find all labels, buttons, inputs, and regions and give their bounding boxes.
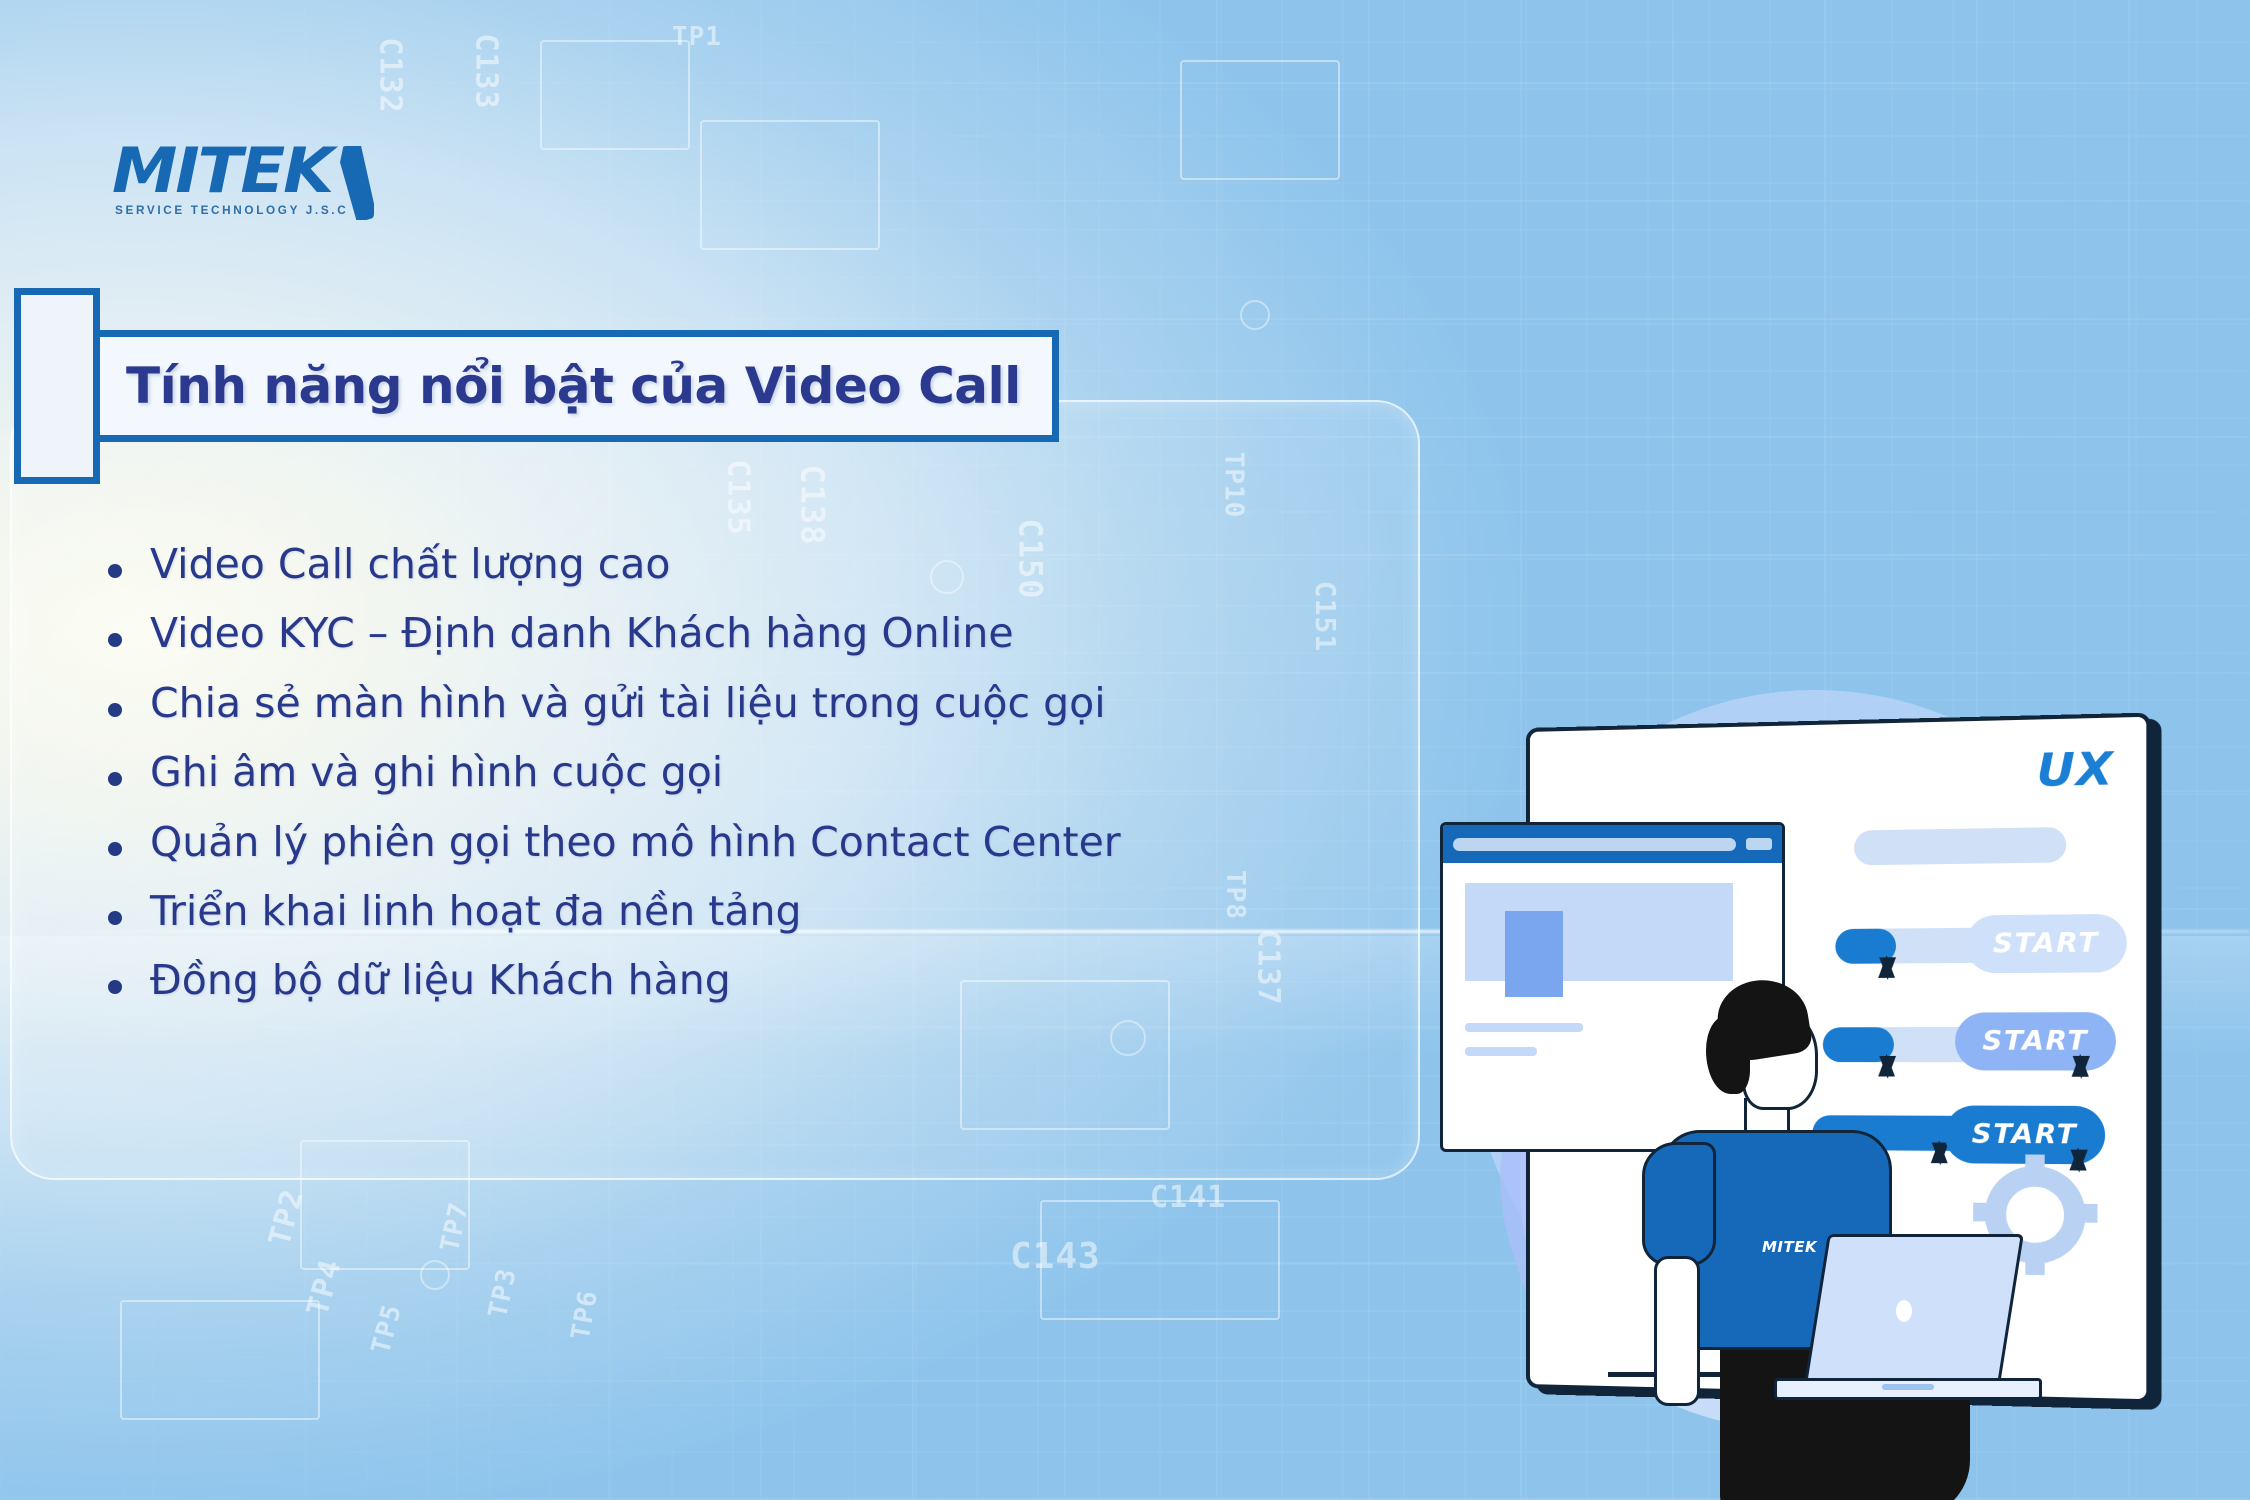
mitek-logo: MITEK SERVICE TECHNOLOGY J.S.C xyxy=(112,140,372,224)
bullet-icon xyxy=(108,564,122,578)
list-item: Video KYC – Định danh Khách hàng Online xyxy=(108,609,1408,657)
list-item-label: Chia sẻ màn hình và gửi tài liệu trong c… xyxy=(150,679,1106,727)
placeholder-bar xyxy=(1854,827,2066,865)
hero-illustration: UX START START START xyxy=(1430,660,2220,1500)
circuit-chip xyxy=(700,120,880,250)
start-button[interactable]: START xyxy=(1955,1012,2116,1070)
browser-title-bar xyxy=(1443,825,1782,863)
laptop-screen xyxy=(1804,1234,2024,1384)
circuit-pad xyxy=(420,1260,450,1290)
person-hair-back xyxy=(1706,1016,1750,1094)
page-title: Tính năng nổi bật của Video Call xyxy=(126,357,1021,415)
gear-tooth xyxy=(2025,1154,2044,1177)
cursor-icon xyxy=(1879,957,1896,980)
list-item-label: Triển khai linh hoạt đa nền tảng xyxy=(150,887,802,935)
circuit-chip xyxy=(120,1300,320,1420)
bullet-icon xyxy=(108,772,122,786)
list-item: Đồng bộ dữ liệu Khách hàng xyxy=(108,956,1408,1004)
circuit-label: C132 xyxy=(373,37,408,113)
gear-tooth xyxy=(2074,1204,2098,1223)
title-accent-tab xyxy=(14,288,100,484)
list-item-label: Đồng bộ dữ liệu Khách hàng xyxy=(150,956,731,1004)
ux-board-label: UX xyxy=(2036,743,2113,798)
circuit-label: C133 xyxy=(469,33,504,109)
bullet-icon xyxy=(108,980,122,994)
circuit-pad xyxy=(1240,300,1270,330)
gear-tooth xyxy=(1973,1203,1996,1222)
list-item-label: Ghi âm và ghi hình cuộc gọi xyxy=(150,748,723,796)
gear-tooth xyxy=(2025,1252,2044,1275)
logo-tagline: SERVICE TECHNOLOGY J.S.C xyxy=(115,205,377,217)
list-item-label: Video KYC – Định danh Khách hàng Online xyxy=(150,609,1014,657)
start-button-label: START xyxy=(1972,1119,2078,1151)
circuit-chip xyxy=(540,40,690,150)
list-item: Ghi âm và ghi hình cuộc gọi xyxy=(108,748,1408,796)
circuit-label: C141 xyxy=(1150,1180,1226,1215)
list-item: Chia sẻ màn hình và gửi tài liệu trong c… xyxy=(108,679,1408,727)
start-button-label: START xyxy=(1982,1026,2088,1057)
window-control-icon[interactable] xyxy=(1746,838,1772,850)
laptop-trackpad xyxy=(1882,1384,1934,1390)
cursor-icon xyxy=(2073,1056,2090,1079)
bullet-icon xyxy=(108,633,122,647)
circuit-chip xyxy=(1180,60,1340,180)
person-sleeve xyxy=(1642,1142,1716,1266)
bullet-icon xyxy=(108,703,122,717)
window-accent-square xyxy=(1505,911,1563,997)
person-arm xyxy=(1654,1256,1700,1406)
circuit-label: C143 xyxy=(1010,1236,1101,1277)
laptop-screen-highlight xyxy=(1896,1300,1912,1322)
list-item: Triển khai linh hoạt đa nền tảng xyxy=(108,887,1408,935)
list-item-label: Quản lý phiên gọi theo mô hình Contact C… xyxy=(150,818,1121,866)
list-item: Video Call chất lượng cao xyxy=(108,540,1408,588)
bullet-icon xyxy=(108,911,122,925)
shirt-logo-label: MITEK xyxy=(1762,1238,1817,1256)
list-item-label: Video Call chất lượng cao xyxy=(150,540,671,588)
title-box: Tính năng nổi bật của Video Call xyxy=(93,330,1059,442)
start-button[interactable]: START xyxy=(1966,914,2127,974)
start-button-label: START xyxy=(1993,928,2099,960)
feature-list: Video Call chất lượng cao Video KYC – Đị… xyxy=(108,540,1408,1026)
circuit-label: TP1 xyxy=(672,22,722,52)
window-text-line xyxy=(1465,1047,1537,1056)
address-bar[interactable] xyxy=(1453,838,1736,851)
window-text-line xyxy=(1465,1023,1583,1032)
bullet-icon xyxy=(108,842,122,856)
list-item: Quản lý phiên gọi theo mô hình Contact C… xyxy=(108,818,1408,866)
